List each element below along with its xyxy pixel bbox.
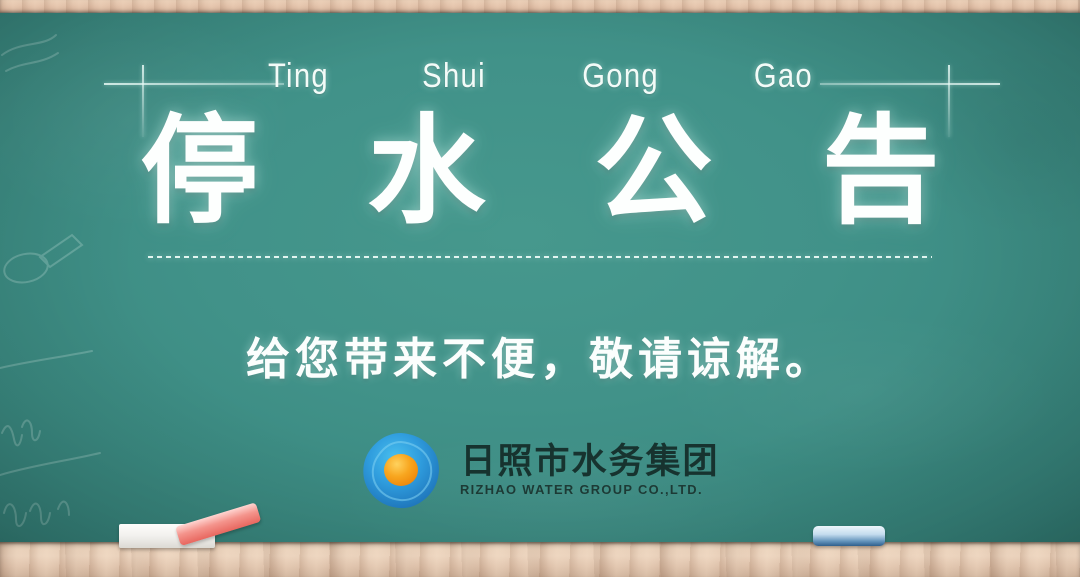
pinyin-row: Ting Shui Gong Gao (0, 57, 1080, 96)
apology-subtitle: 给您带来不便，敬请谅解。 (0, 323, 1080, 387)
water-outage-notice-poster: Ting Shui Gong Gao 停 水 公 告 给您带来不便，敬请谅解。 (0, 0, 1080, 577)
pinyin-gao: Gao (754, 57, 813, 96)
chalkboard-surface: Ting Shui Gong Gao 停 水 公 告 给您带来不便，敬请谅解。 (0, 13, 1080, 542)
water-drop-sun-icon (360, 431, 442, 511)
dashed-divider (148, 256, 932, 258)
pinyin-ting: Ting (268, 57, 329, 96)
wood-frame-top (0, 0, 1080, 13)
page-title: 停 水 公 告 (0, 105, 1080, 237)
chalk-stick-blue (813, 526, 885, 546)
company-logo: 日照市水务集团 RIZHAO WATER GROUP CO.,LTD. (0, 431, 1080, 511)
pinyin-gong: Gong (582, 57, 659, 96)
pinyin-shui: Shui (423, 57, 487, 96)
company-name-en: RIZHAO WATER GROUP CO.,LTD. (460, 483, 727, 497)
company-name-cn: 日照市水务集团 (460, 445, 719, 480)
company-name-block: 日照市水务集团 RIZHAO WATER GROUP CO.,LTD. (460, 445, 719, 497)
